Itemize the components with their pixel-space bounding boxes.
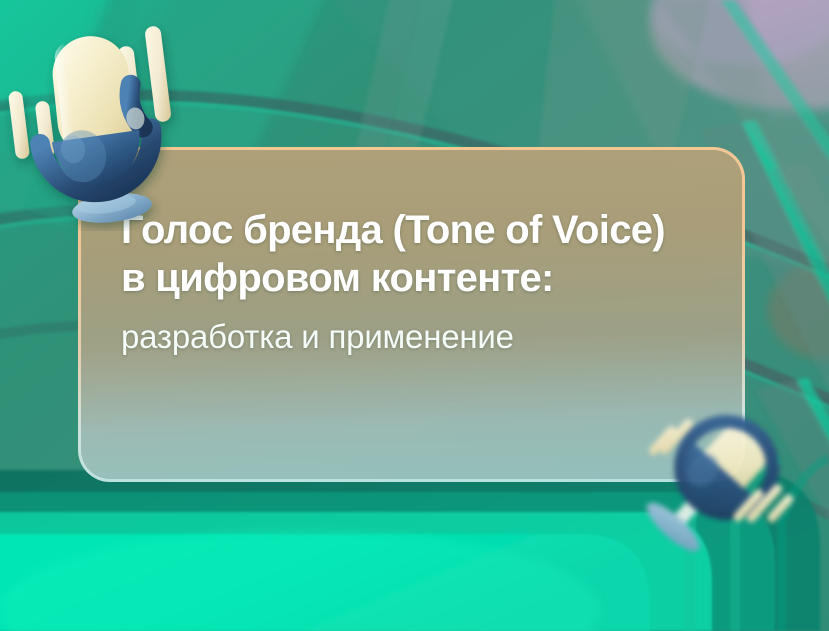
microphone-top-left-icon [0, 6, 204, 231]
page-title-line-2: в цифровом контенте: [121, 254, 702, 302]
page-title-line-1: Голос бренда (Tone of Voice) [121, 206, 702, 254]
brand-voice-banner: Голос бренда (Tone of Voice) в цифровом … [0, 0, 829, 631]
microphone-bottom-right-icon [628, 403, 808, 558]
page-subtitle: разработка и применение [121, 316, 702, 358]
